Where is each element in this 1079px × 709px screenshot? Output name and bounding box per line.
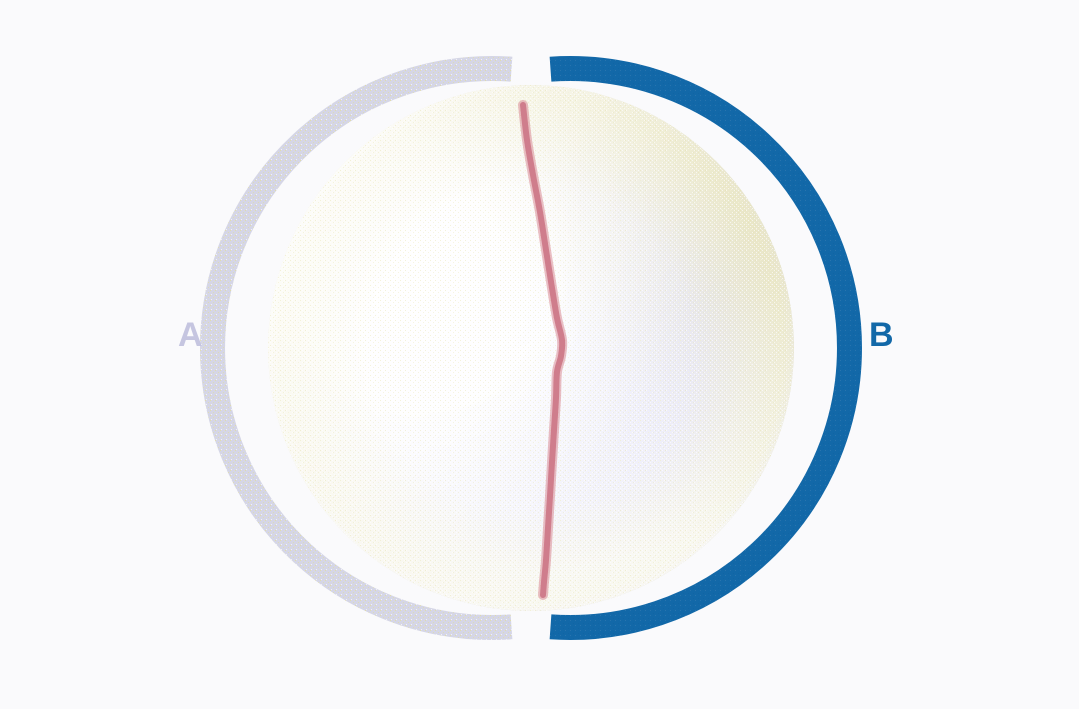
chart-stage: A B bbox=[0, 0, 1079, 709]
segment-b-label: B bbox=[869, 318, 894, 352]
segment-a-label: A bbox=[178, 318, 203, 352]
split-donut-chart bbox=[0, 0, 1079, 709]
